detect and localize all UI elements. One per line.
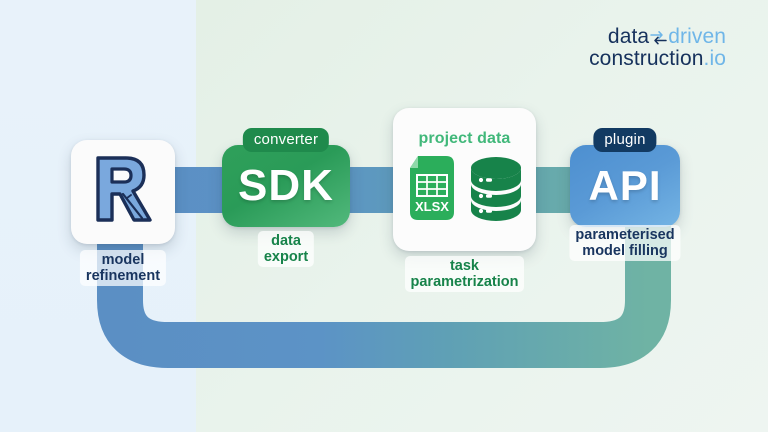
brand-tld-text: .io [704,47,726,70]
sdk-card[interactable]: converter SDK [222,145,350,227]
badge-plugin: plugin [593,128,656,152]
revit-card[interactable] [71,140,175,244]
brand-data-text: data [608,25,649,48]
pipeline-loop-path [120,190,648,345]
brand-driven-text: driven [668,25,726,48]
xlsx-file-icon: XLSX [406,155,458,226]
node-project-data[interactable]: project data XLSX [393,108,536,251]
node-api[interactable]: plugin API parameterised model filling [570,145,680,227]
xlsx-label: XLSX [415,199,449,214]
api-card[interactable]: plugin API [570,145,680,227]
brand-logo-line2: construction.io [589,48,726,70]
project-data-card[interactable]: project data XLSX [393,108,536,251]
caption-line-2: parametrization [411,274,519,290]
node-sdk[interactable]: converter SDK data export [222,145,350,227]
brand-logo-line1: datadriven [589,26,726,48]
diagram-canvas: datadriven construction.io model refinem… [0,0,768,432]
data-transfer-icon [650,28,667,43]
database-icon [468,155,524,226]
api-title: API [588,165,661,207]
caption-line-1: parameterised [575,227,674,243]
revit-r-logo-icon [90,154,156,231]
caption-model-refinement: model refinement [80,250,166,286]
caption-line-1: data [264,233,308,249]
caption-line-2: model filling [575,243,674,259]
caption-data-export: data export [258,231,314,267]
caption-line-2: refinement [86,268,160,284]
caption-task-parametrization: task parametrization [405,256,525,292]
caption-line-1: task [411,258,519,274]
badge-converter: converter [243,128,329,152]
caption-line-2: export [264,249,308,265]
brand-construction-text: construction [589,47,703,70]
brand-logo: datadriven construction.io [589,26,726,71]
sdk-title: SDK [238,164,334,208]
caption-line-1: model [86,252,160,268]
project-data-icon-row: XLSX [406,155,524,226]
project-data-title: project data [419,130,511,148]
caption-parameterised-model-filling: parameterised model filling [569,225,680,261]
node-model-refinement[interactable]: model refinement [71,140,175,244]
